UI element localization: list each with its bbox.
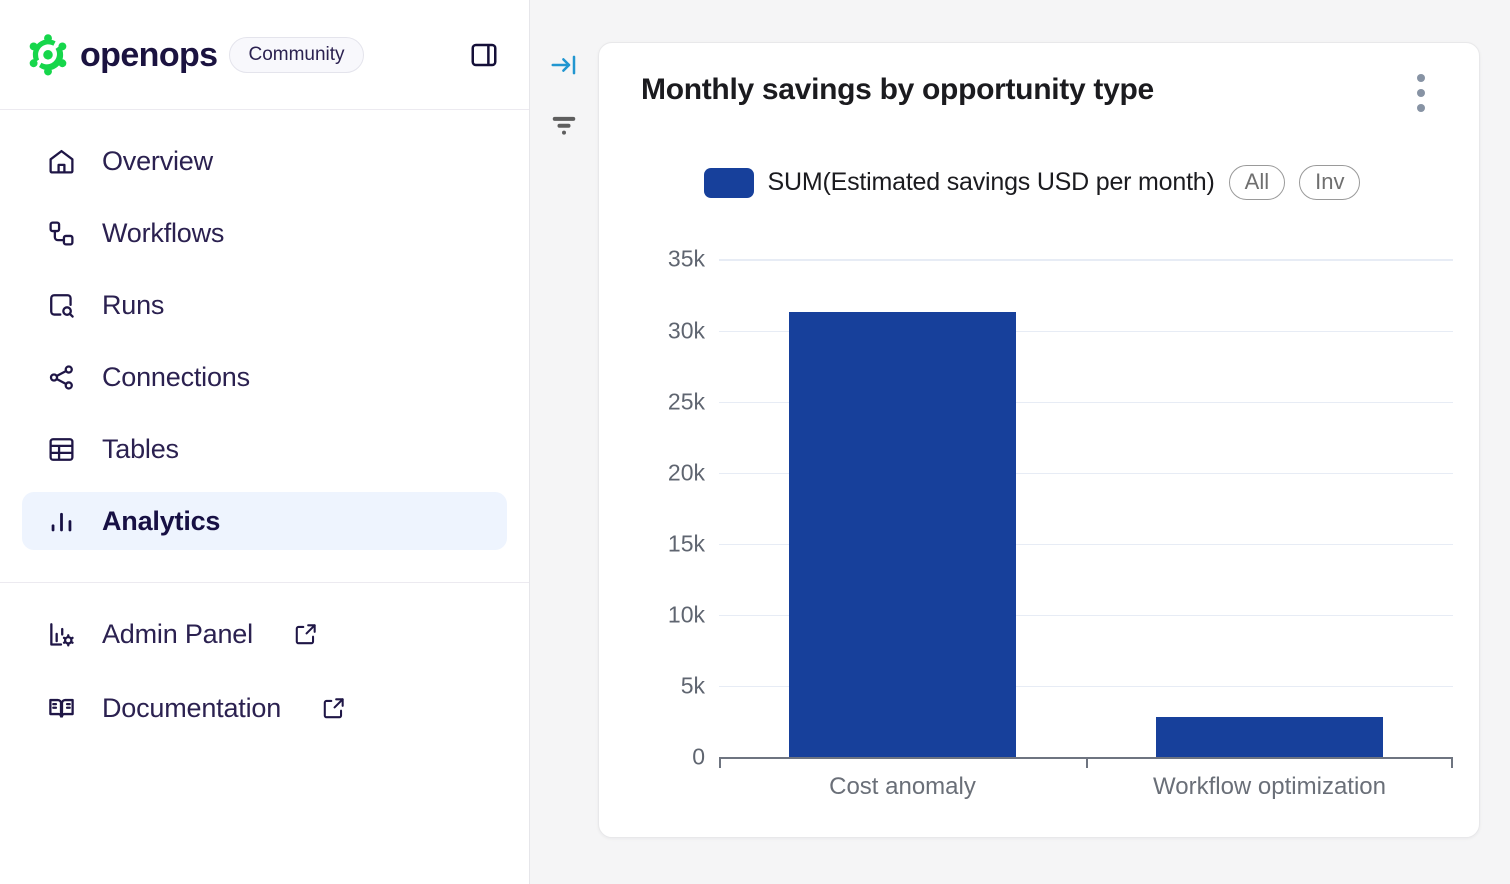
- y-axis-tick-label: 35k: [641, 246, 705, 273]
- legend-color-swatch: [704, 168, 754, 198]
- sidebar-item-overview[interactable]: Overview: [22, 132, 507, 190]
- y-axis-tick-label: 10k: [641, 601, 705, 628]
- x-axis-tick: [1086, 757, 1088, 768]
- y-gridline: [719, 259, 1453, 261]
- home-icon: [46, 146, 76, 176]
- arrow-to-right-icon[interactable]: [547, 48, 581, 82]
- page-title: Monthly savings by opportunity type: [641, 73, 1154, 107]
- y-axis-tick-label: 25k: [641, 388, 705, 415]
- x-axis-tick: [719, 757, 721, 768]
- sidebar-header: openops Community: [0, 0, 529, 110]
- y-axis-tick-label: 15k: [641, 530, 705, 557]
- bar-chart-icon: [46, 506, 76, 536]
- x-axis-category-label: Workflow optimization: [1086, 773, 1453, 801]
- sidebar-item-runs[interactable]: Runs: [22, 276, 507, 334]
- chart-legend: SUM(Estimated savings USD per month) All…: [599, 165, 1479, 200]
- x-axis-tick: [1451, 757, 1453, 768]
- sidebar-item-label: Runs: [102, 290, 164, 321]
- sidebar-item-workflows[interactable]: Workflows: [22, 204, 507, 262]
- sidebar-item-label: Tables: [102, 434, 179, 465]
- sidebar-nav: Overview Workflows: [0, 110, 529, 564]
- more-vertical-icon[interactable]: [1409, 71, 1433, 115]
- openops-logo-icon: [26, 33, 70, 77]
- app-root: openops Community Overview: [0, 0, 1510, 884]
- main-content: Monthly savings by opportunity type SUM(…: [530, 0, 1510, 884]
- external-link-icon: [293, 621, 319, 647]
- sidebar-footer: Admin Panel Documentation: [0, 605, 529, 753]
- brand-logo[interactable]: openops: [26, 33, 217, 77]
- panel-toggle-icon[interactable]: [467, 38, 501, 72]
- brand-name: openops: [80, 38, 217, 72]
- runs-search-icon: [46, 290, 76, 320]
- community-badge: Community: [229, 37, 363, 73]
- workflows-icon: [46, 218, 76, 248]
- sidebar-item-label: Admin Panel: [102, 619, 253, 650]
- sidebar: openops Community Overview: [0, 0, 530, 884]
- sidebar-item-admin-panel[interactable]: Admin Panel: [22, 605, 507, 663]
- external-link-icon: [321, 695, 347, 721]
- y-axis-tick-label: 0: [641, 744, 705, 771]
- book-open-icon: [46, 693, 76, 723]
- bar-1[interactable]: [789, 312, 1017, 757]
- y-axis-tick-label: 30k: [641, 317, 705, 344]
- chart-card: Monthly savings by opportunity type SUM(…: [598, 42, 1480, 838]
- legend-series-label: SUM(Estimated savings USD per month): [768, 168, 1215, 197]
- sidebar-divider: [0, 582, 529, 583]
- y-axis-tick-label: 20k: [641, 459, 705, 486]
- bar-2[interactable]: [1156, 717, 1384, 757]
- filter-icon[interactable]: [547, 108, 581, 142]
- sidebar-item-label: Documentation: [102, 693, 281, 724]
- sidebar-item-label: Workflows: [102, 218, 224, 249]
- share-nodes-icon: [46, 362, 76, 392]
- x-axis-category-label: Cost anomaly: [719, 773, 1086, 801]
- sidebar-item-analytics[interactable]: Analytics: [22, 492, 507, 550]
- table-icon: [46, 434, 76, 464]
- legend-filter-all-button[interactable]: All: [1229, 165, 1285, 200]
- admin-chart-gear-icon: [46, 619, 76, 649]
- sidebar-item-label: Overview: [102, 146, 213, 177]
- sidebar-item-label: Connections: [102, 362, 250, 393]
- sidebar-item-tables[interactable]: Tables: [22, 420, 507, 478]
- y-axis-tick-label: 5k: [641, 672, 705, 699]
- sidebar-item-label: Analytics: [102, 506, 220, 537]
- plot-area: 05k10k15k20k25k30k35kCost anomalyWorkflo…: [641, 233, 1461, 813]
- tool-rail: [530, 0, 598, 884]
- sidebar-item-documentation[interactable]: Documentation: [22, 679, 507, 737]
- bar-chart-plot: 05k10k15k20k25k30k35kCost anomalyWorkflo…: [641, 233, 1461, 813]
- sidebar-item-connections[interactable]: Connections: [22, 348, 507, 406]
- legend-filter-inv-button[interactable]: Inv: [1299, 165, 1360, 200]
